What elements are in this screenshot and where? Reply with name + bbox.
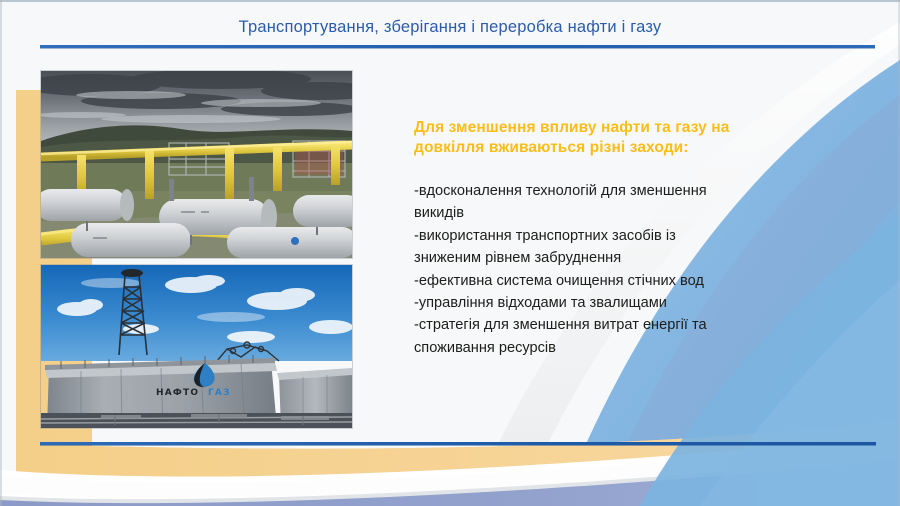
oil-storage-tanks-photo: НАФТО ГАЗ — [41, 265, 352, 428]
bottom-divider-rule-shadow — [40, 445, 876, 446]
measures-list: -вдосконалення технологій для зменшення … — [414, 180, 814, 359]
window-left-edge — [0, 0, 2, 506]
list-item: -вдосконалення технологій для зменшення … — [414, 180, 814, 225]
lead-heading-line-1: Для зменшення впливу нафти та газу на — [414, 118, 814, 138]
svg-text:НАФТО: НАФТО — [156, 388, 199, 398]
lead-heading-line-2: довкілля вживаються різні заходи: — [414, 138, 814, 158]
page-title: Транспортування, зберігання і переробка … — [239, 18, 662, 37]
gas-pipeline-station-photo — [41, 71, 352, 258]
slide-body-content: Для зменшення впливу нафти та газу на до… — [414, 118, 814, 359]
list-item: -ефективна система очищення стічних вод — [414, 270, 814, 292]
list-item: -управління відходами та звалищами — [414, 292, 814, 314]
presentation-slide: Транспортування, зберігання і переробка … — [0, 0, 900, 506]
slide-title-area: Транспортування, зберігання і переробка … — [0, 18, 900, 37]
svg-text:ГАЗ: ГАЗ — [208, 388, 231, 398]
list-item: -використання транспортних засобів із зн… — [414, 225, 814, 270]
lead-heading: Для зменшення впливу нафти та газу на до… — [414, 118, 814, 158]
list-item: -стратегія для зменшення витрат енергії … — [414, 314, 814, 359]
title-divider-rule-shadow — [40, 48, 875, 49]
window-top-edge — [0, 0, 900, 2]
